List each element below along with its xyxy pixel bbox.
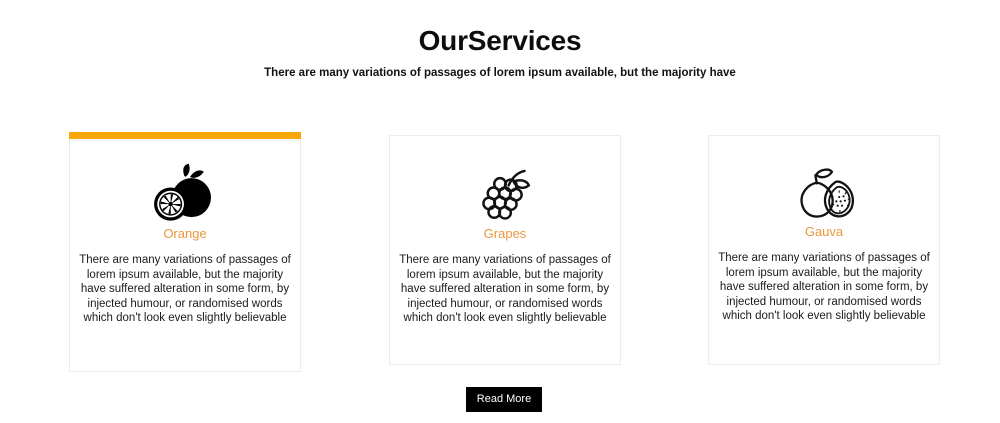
card-description: There are many variations of passages of… (70, 253, 300, 326)
card-label-orange: Orange (70, 226, 300, 242)
card-content: Grapes There are many variations of pass… (390, 163, 620, 326)
page-subtitle: There are many variations of passages of… (0, 66, 1000, 81)
card-description: There are many variations of passages of… (709, 251, 939, 324)
read-more-button[interactable]: Read More (466, 387, 542, 412)
orange-fruit-icon (149, 163, 221, 225)
card-content: Orange There are many variations of pass… (70, 163, 300, 326)
service-card-grapes[interactable]: Grapes There are many variations of pass… (389, 135, 621, 365)
grapes-icon (469, 163, 541, 225)
service-card-orange[interactable]: Orange There are many variations of pass… (69, 140, 301, 372)
guava-icon (788, 161, 860, 223)
card-label-grapes: Grapes (390, 226, 620, 242)
card-content: Gauva There are many variations of passa… (709, 161, 939, 324)
card-description: There are many variations of passages of… (390, 253, 620, 326)
service-card-gauva[interactable]: Gauva There are many variations of passa… (708, 135, 940, 365)
card-accent-bar-orange (69, 132, 301, 139)
page-title: OurServices (0, 25, 1000, 57)
card-label-gauva: Gauva (709, 224, 939, 240)
